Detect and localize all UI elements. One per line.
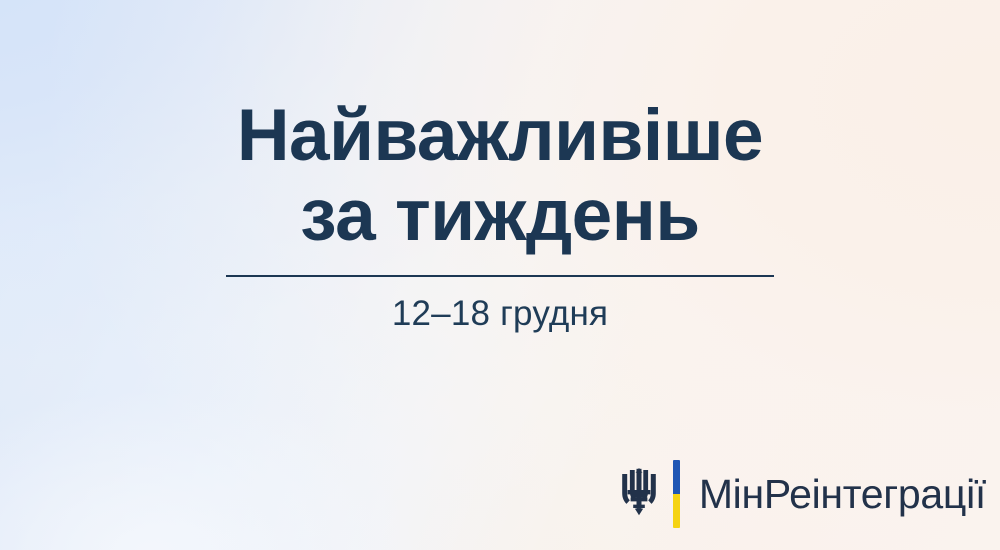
- page-title: Найважливіше за тиждень: [0, 96, 1000, 256]
- ministry-logo: МінРеінтеграції: [621, 456, 986, 532]
- title-divider: [226, 275, 774, 277]
- page-title-line-2: за тиждень: [0, 176, 1000, 256]
- ukraine-flag-bar-icon: [673, 460, 680, 528]
- page-title-line-1: Найважливіше: [0, 96, 1000, 176]
- poster-canvas: Найважливіше за тиждень 12–18 грудня: [0, 0, 1000, 550]
- ministry-logo-text: МінРеінтеграції: [699, 471, 986, 517]
- date-range-subtitle: 12–18 грудня: [0, 294, 1000, 334]
- ukrainian-trident-icon: [621, 468, 657, 520]
- hero-block: Найважливіше за тиждень 12–18 грудня: [0, 96, 1000, 334]
